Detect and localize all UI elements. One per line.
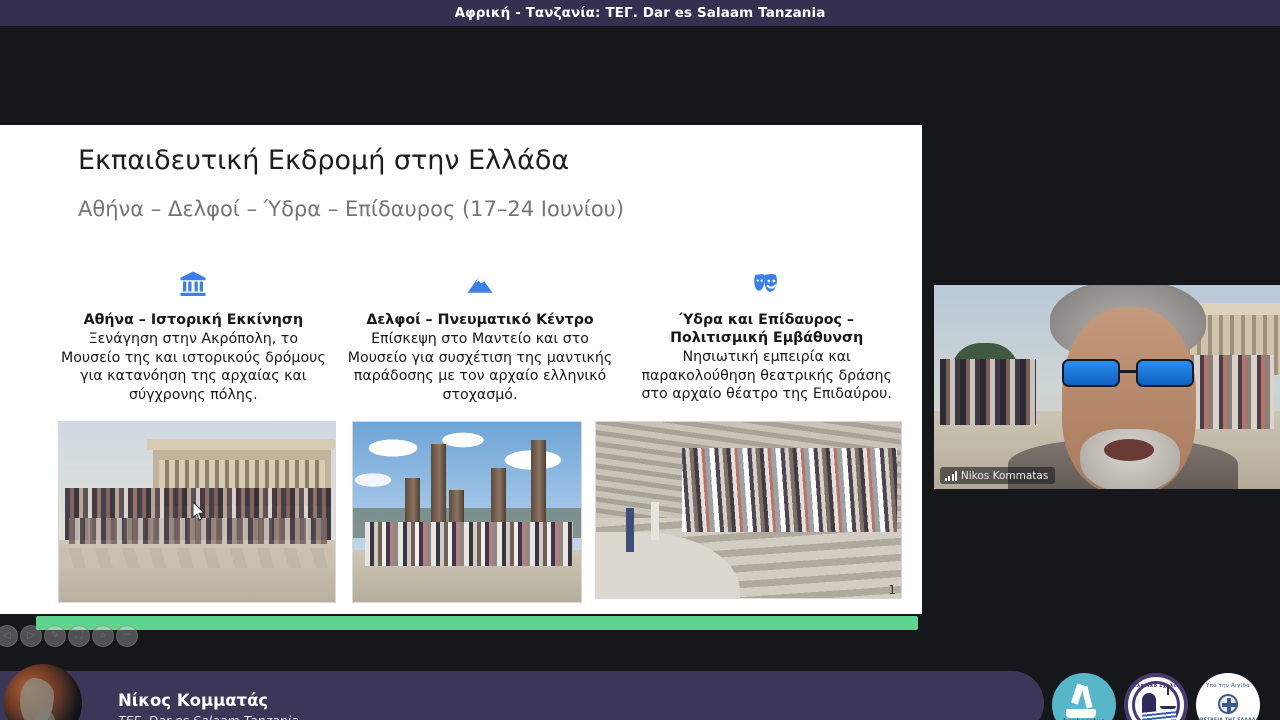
logo-row: hephaestus ΕΡΓΟ Ελληνικό Σχολείο ΑΓΙΟΣ Ν… xyxy=(1052,673,1260,720)
hephaestus-logo: hephaestus ΕΡΓΟ xyxy=(1052,673,1116,720)
slide-progress-bar[interactable] xyxy=(36,616,918,630)
slide-column-hydra-epidaurus: Ύδρα και Επίδαυρος – Πολιτισμική Εμβάθυν… xyxy=(633,267,900,404)
delphi-columns-photo xyxy=(352,421,582,603)
embassy-logo-line1: Υπό την Αιγίδα xyxy=(1196,683,1260,689)
slide-canvas[interactable]: Εκπαιδευτική Εκδρομή στην Ελλάδα Αθήνα –… xyxy=(0,125,922,614)
zoom-in-button[interactable]: ⌕ xyxy=(92,625,114,647)
speaker-subtitle: ΤΕΓ. Dar es Salaam Tanzania xyxy=(118,713,299,720)
video-tile-speaker[interactable]: Nikos Kommatas xyxy=(934,285,1280,489)
participant-name-badge: Nikos Kommatas xyxy=(940,467,1055,484)
agios-nektarios-logo-line1: Ελληνικό Σχολείο xyxy=(1128,683,1184,689)
speaker-name: Νίκος Κομματάς xyxy=(118,691,268,710)
greek-embassy-vienna-logo: Υπό την Αιγίδα ΠΡΕΣΒΕΙΑ ΤΗΣ ΕΛΛΑΔΑΣ ΣΤΗ … xyxy=(1196,673,1260,720)
column-heading: Ύδρα και Επίδαυρος – Πολιτισμική Εμβάθυν… xyxy=(633,311,900,347)
column-heading: Δελφοί – Πνευματικό Κέντρο xyxy=(366,311,593,329)
theater-masks-icon xyxy=(752,267,782,301)
slide-columns: Αθήνα – Ιστορική Εκκίνηση Ξενάγηση στην … xyxy=(60,267,900,404)
column-body: Νησιωτική εμπειρία και παρακολούθηση θεα… xyxy=(633,348,900,403)
participant-name: Nikos Kommatas xyxy=(961,470,1048,482)
column-body: Ξενάγηση στην Ακρόπολη, το Μουσείο της κ… xyxy=(60,330,327,404)
column-heading: Αθήνα – Ιστορική Εκκίνηση xyxy=(84,311,303,329)
fit-screen-button[interactable]: ⛶ xyxy=(68,625,90,647)
mountain-icon xyxy=(465,267,495,301)
pen-annotate-button[interactable]: ✎ xyxy=(44,625,66,647)
slide-title: Εκπαιδευτική Εκδρομή στην Ελλάδα xyxy=(78,145,569,176)
app-root: Αφρική - Τανζανία: ΤΕΓ. Dar es Salaam Ta… xyxy=(0,0,1280,720)
slide-toolbar: ◁ ▷ ✎ ⛶ ⌕ － xyxy=(0,625,138,647)
speaker-face xyxy=(1038,285,1218,489)
window-title: Αφρική - Τανζανία: ΤΕΓ. Dar es Salaam Ta… xyxy=(455,5,826,21)
audio-level-icon xyxy=(945,471,957,481)
slide-photo-row xyxy=(58,421,903,605)
slide-column-athens: Αθήνα – Ιστορική Εκκίνηση Ξενάγηση στην … xyxy=(60,267,327,404)
window-title-bar: Αφρική - Τανζανία: ΤΕΓ. Dar es Salaam Ta… xyxy=(0,0,1280,26)
zoom-out-button[interactable]: － xyxy=(116,625,138,647)
slide-column-delphi: Δελφοί – Πνευματικό Κέντρο Επίσκεψη στο … xyxy=(347,267,614,404)
epidaurus-theatre-photo xyxy=(595,421,902,599)
agios-nektarios-logo: Ελληνικό Σχολείο ΑΓΙΟΣ ΝΕΚΤΑΡΙΟΣ xyxy=(1124,673,1188,720)
slide-page-number: 1 xyxy=(888,583,896,597)
previous-slide-button[interactable]: ◁ xyxy=(0,625,18,647)
classical-building-icon xyxy=(178,267,208,301)
slide-subtitle: Αθήνα – Δελφοί – Ύδρα – Επίδαυρος (17–24… xyxy=(78,197,624,221)
presentation-stage: Εκπαιδευτική Εκδρομή στην Ελλάδα Αθήνα –… xyxy=(0,26,1280,720)
play-button[interactable]: ▷ xyxy=(20,625,42,647)
column-body: Επίσκεψη στο Μαντείο και στο Μουσείο για… xyxy=(347,330,614,404)
